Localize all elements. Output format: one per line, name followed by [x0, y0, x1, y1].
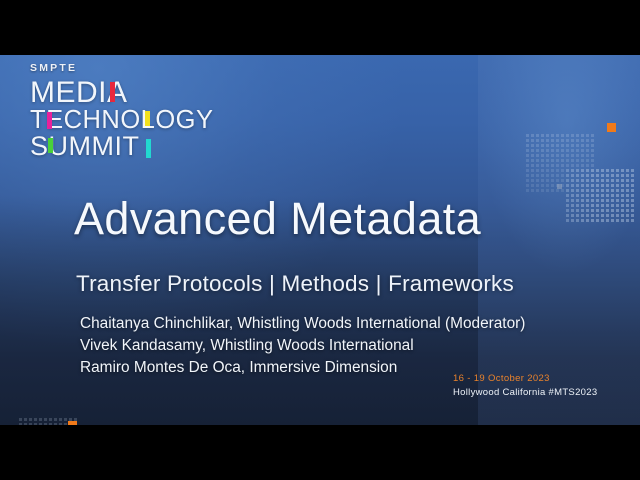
slide-title: Advanced Metadata [74, 193, 481, 245]
presentation-slide: SMPTE MEDIA TECHNOLOGY SUMMIT Advanced M… [0, 55, 640, 425]
slide-stage: SMPTE MEDIA TECHNOLOGY SUMMIT Advanced M… [0, 0, 640, 480]
speaker-list: Chaitanya Chinchlikar, Whistling Woods I… [80, 313, 525, 379]
logo-line-media: MEDIA [30, 79, 250, 108]
speaker-item: Vivek Kandasamy, Whistling Woods Interna… [80, 335, 525, 357]
logo-line-summit-text: SUMMIT [30, 131, 139, 161]
speaker-item: Chaitanya Chinchlikar, Whistling Woods I… [80, 313, 525, 335]
smpte-logo: SMPTE MEDIA TECHNOLOGY SUMMIT [30, 63, 250, 160]
letterbox-bar-bottom [0, 425, 640, 480]
dot-grid-top-right-icon [525, 133, 635, 223]
logo-accent-yellow-icon [145, 111, 150, 126]
slide-subtitle: Transfer Protocols | Methods | Framework… [76, 271, 514, 297]
logo-line-technology: TECHNOLOGY [30, 108, 250, 132]
grey-square-accent-top-right-icon [557, 184, 562, 189]
letterbox-bar-top [0, 0, 640, 55]
event-location: Hollywood California #MTS2023 [453, 386, 597, 400]
event-info: 16 - 19 October 2023 Hollywood Californi… [453, 372, 597, 400]
logo-accent-green-icon [48, 138, 53, 153]
event-date: 16 - 19 October 2023 [453, 372, 597, 386]
orange-square-accent-top-right-icon [607, 123, 616, 132]
logo-accent-cyan-icon [146, 139, 151, 158]
logo-line-summit: SUMMIT [30, 134, 250, 160]
logo-brand-text: SMPTE [30, 63, 250, 74]
logo-accent-red-icon [110, 82, 115, 102]
background-right-panel-glow [478, 55, 640, 275]
logo-accent-magenta-icon [47, 112, 52, 129]
